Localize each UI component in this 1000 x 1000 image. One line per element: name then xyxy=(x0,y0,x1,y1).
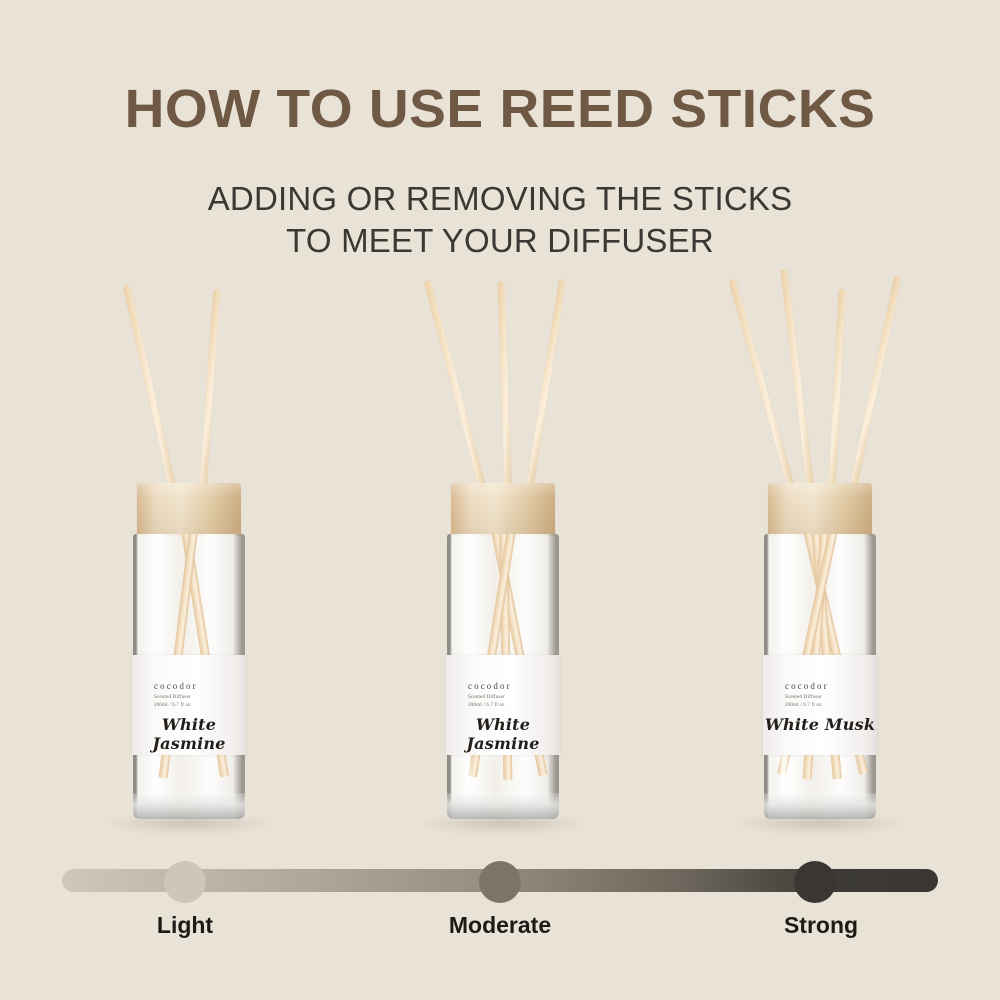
scent-name: White Jasmine xyxy=(132,715,246,753)
bottle-shadow xyxy=(740,818,900,834)
intensity-slider[interactable] xyxy=(62,862,938,892)
reed-sticks-above-cap xyxy=(705,270,935,495)
label-volume: 200ml / 6.7 fl oz xyxy=(154,703,191,708)
reed-stick xyxy=(123,285,178,495)
bottle-shadow xyxy=(423,818,583,834)
wooden-cap-icon xyxy=(451,483,555,535)
bottle-shadow xyxy=(109,818,269,834)
wooden-cap-icon xyxy=(768,483,872,535)
product-label: cocodor Scented Diffuser 200ml / 6.7 fl … xyxy=(132,655,246,755)
subtitle-line-1: ADDING OR REMOVING THE STICKS xyxy=(0,178,1000,220)
slider-knob-light[interactable] xyxy=(164,861,206,903)
intensity-label-moderate: Moderate xyxy=(380,912,620,939)
reed-stick xyxy=(424,280,488,495)
bottle-base xyxy=(133,793,245,819)
label-descriptor: Scented Diffuser xyxy=(785,695,822,700)
scent-name: White Musk xyxy=(763,715,877,734)
product-label: cocodor Scented Diffuser 200ml / 6.7 fl … xyxy=(763,655,877,755)
brand-name: cocodor xyxy=(154,681,198,691)
product-diffuser-strong: cocodor Scented Diffuser 200ml / 6.7 fl … xyxy=(705,270,935,840)
product-diffuser-light: cocodor Scented Diffuser 200ml / 6.7 fl … xyxy=(74,270,304,840)
page-title: HOW TO USE REED STICKS xyxy=(0,78,1000,140)
infographic-canvas: HOW TO USE REED STICKS ADDING OR REMOVIN… xyxy=(0,0,1000,1000)
reed-stick xyxy=(199,289,220,495)
product-label: cocodor Scented Diffuser 200ml / 6.7 fl … xyxy=(446,655,560,755)
subtitle-line-2: TO MEET YOUR DIFFUSER xyxy=(0,220,1000,262)
brand-name: cocodor xyxy=(785,681,829,691)
reed-stick xyxy=(525,279,566,495)
reed-stick xyxy=(848,275,901,495)
label-descriptor: Scented Diffuser xyxy=(154,695,191,700)
scent-name: White Jasmine xyxy=(446,715,560,753)
label-volume: 200ml / 6.7 fl oz xyxy=(468,703,505,708)
reed-sticks-above-cap xyxy=(388,270,618,495)
product-diffuser-moderate: cocodor Scented Diffuser 200ml / 6.7 fl … xyxy=(388,270,618,840)
reed-stick xyxy=(828,289,846,495)
brand-name: cocodor xyxy=(468,681,512,691)
intensity-label-strong: Strong xyxy=(701,912,941,939)
bottle-base xyxy=(447,793,559,819)
bottle-base xyxy=(764,793,876,819)
slider-knob-moderate[interactable] xyxy=(479,861,521,903)
intensity-label-light: Light xyxy=(65,912,305,939)
label-descriptor: Scented Diffuser xyxy=(468,695,505,700)
reed-sticks-above-cap xyxy=(74,270,304,495)
label-volume: 200ml / 6.7 fl oz xyxy=(785,703,822,708)
wooden-cap-icon xyxy=(137,483,241,535)
page-subtitle: ADDING OR REMOVING THE STICKS TO MEET YO… xyxy=(0,178,1000,262)
reed-stick xyxy=(498,281,512,495)
slider-knob-strong[interactable] xyxy=(794,861,836,903)
